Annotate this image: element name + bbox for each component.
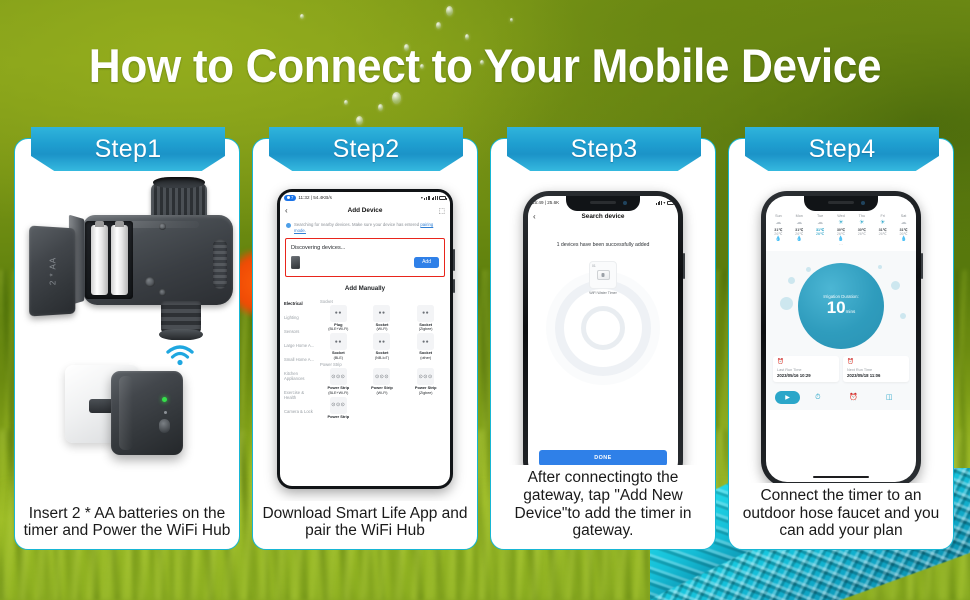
step-ribbon-2: Step2 <box>269 127 463 171</box>
phone-volume-button[interactable] <box>453 249 455 271</box>
category-item-small-home-appliances[interactable]: Small Home A... <box>284 353 317 367</box>
app-bar-title: Search device <box>528 213 678 220</box>
status-network-pill: 7 <box>284 195 296 201</box>
step-card-2: Step2 7 11:32 | 54.4KB/s ▾ <box>252 138 478 550</box>
android-screen: 7 11:32 | 54.4KB/s ▾ <box>280 192 450 486</box>
add-manually-body: Electrical Lighting Sensors Large Home A… <box>280 297 450 420</box>
device-group-header-socket: Socket <box>317 297 447 305</box>
category-item-large-home-appliances[interactable]: Large Home A... <box>284 339 317 353</box>
step-ribbon-3: Step3 <box>507 127 701 171</box>
category-item-electrical[interactable]: Electrical <box>284 297 317 311</box>
device-tile[interactable]: ⊙⊙⊙ Power Strip (Zigbee) <box>404 368 447 395</box>
phone-power-button[interactable] <box>683 253 685 279</box>
category-list: Electrical Lighting Sensors Large Home A… <box>280 297 317 420</box>
socket-icon: ●● <box>373 305 390 322</box>
status-icons: ▾ <box>421 195 446 200</box>
sun-icon: ☀ <box>851 219 872 228</box>
device-group-header-power-strip: Power Strip <box>317 360 447 368</box>
weather-forecast: Sun Mon Tue Wed Thu Fri Sat ☁ ☁ ☁ <box>766 211 916 251</box>
dial-unit: mins <box>846 309 856 314</box>
cloud-icon: ☁ <box>768 219 789 228</box>
socket-icon: ●● <box>417 305 434 322</box>
step-illustration-3: 15:49 | 25.6K ▾ ‹ Search device <box>491 175 715 465</box>
hub-indicator-dot <box>164 411 167 414</box>
collapse-handle[interactable]: ⋯ <box>768 243 914 247</box>
device-tile[interactable]: ⊙⊙⊙ Power Strip <box>317 397 360 419</box>
socket-icon: ●● <box>373 333 390 350</box>
searching-ripple-graphic <box>555 280 651 376</box>
water-timer-icon <box>597 270 610 280</box>
signal-bars-icon <box>656 201 662 205</box>
iphone-frame: 15:49 | 25.6K ▾ ‹ Search device <box>523 191 683 465</box>
hub-pair-button <box>159 419 170 433</box>
list-icon[interactable]: ◫ <box>871 394 907 401</box>
app-bar-title: Add Device <box>280 207 450 214</box>
power-strip-icon: ⊙⊙⊙ <box>330 397 347 414</box>
status-time: 11:32 | 54.4KB/s <box>298 195 332 200</box>
dial-value: 10 <box>827 298 846 317</box>
device-tile[interactable]: ●● Socket (Wi-Fi) <box>361 305 404 332</box>
status-bar: 7 11:32 | 54.4KB/s ▾ <box>280 192 450 203</box>
done-button[interactable]: DONE <box>539 450 667 465</box>
raindrop-icon: 💧 <box>768 237 789 243</box>
socket-icon: ●● <box>330 333 347 350</box>
phone-power-button[interactable] <box>921 253 923 279</box>
app-bar: ‹ Search device <box>528 209 678 224</box>
step-card-1: Step1 2 * AA <box>14 138 240 550</box>
success-message: 1 devices have been successfully added <box>528 224 678 248</box>
add-manually-heading: Add Manually <box>280 277 450 297</box>
bottom-toolbar: ▶ ⏱ ⏰ ◫ <box>766 382 916 404</box>
timer-side-grip <box>213 239 227 289</box>
step-card-4: Step4 Sun Mon Tue <box>728 138 954 550</box>
battery-cover-label: 2 * AA <box>49 257 58 285</box>
device-tile[interactable]: ●● Socket (BLE) <box>317 333 360 360</box>
step-illustration-4: Sun Mon Tue Wed Thu Fri Sat ☁ ☁ ☁ <box>729 175 953 483</box>
run-time-cards: ⏰ Last Run Time 2023/05/16 10:29 ⏰ Next … <box>766 349 916 382</box>
wifi-signal-icon <box>165 343 195 367</box>
device-thumbnail-icon <box>291 256 300 269</box>
timer-hose-outlet <box>161 301 201 335</box>
clock-icon: ⏰ <box>847 360 905 366</box>
phone-notch <box>804 196 878 211</box>
step-caption-1: Insert 2 * AA batteries on the timer and… <box>15 501 239 549</box>
clock-icon: ⏰ <box>777 360 835 366</box>
weather-temp-column: 31℃ 26℃ <box>872 228 893 238</box>
device-tile: 01 <box>589 261 617 289</box>
phone-power-button[interactable] <box>453 279 455 293</box>
searching-hint-text: Searching for nearby devices. Make sure … <box>294 222 419 227</box>
phone-speaker <box>590 201 616 204</box>
timer-icon[interactable]: ⏰ <box>836 394 872 401</box>
searching-hint: Searching for nearby devices. Make sure … <box>280 218 450 237</box>
add-device-button[interactable]: Add <box>414 257 439 268</box>
step-ribbon-1: Step1 <box>31 127 225 171</box>
power-strip-icon: ⊙⊙⊙ <box>417 368 434 385</box>
device-tile[interactable]: ●● Plug (BLE+Wi-Fi) <box>317 305 360 332</box>
discovered-device-row: Add <box>291 256 439 269</box>
weather-temp-column: 30℃ 26℃ <box>851 228 872 238</box>
device-tile[interactable]: ⊙⊙⊙ Power Strip (BLE+Wi-Fi) <box>317 368 360 395</box>
next-run-time-card[interactable]: ⏰ Next Run Time 2023/05/18 11:06 <box>843 356 909 382</box>
signal-bars-icon-2 <box>432 196 438 200</box>
category-item-kitchen-appliances[interactable]: Kitchen Appliances <box>284 367 317 386</box>
battery-cover: 2 * AA <box>29 225 75 316</box>
weather-icons: ☁ ☁ ☁ ☀ ☀ ☀ ☁ <box>768 219 914 228</box>
plug-icon: ●● <box>330 305 347 322</box>
signal-bars-icon <box>424 196 430 200</box>
info-icon <box>286 223 291 228</box>
device-grid-sockets: ●● Plug (BLE+Wi-Fi) ●● Socket (Wi-Fi) <box>317 305 447 360</box>
sun-icon: ☀ <box>872 219 893 228</box>
cloud-icon: ☁ <box>893 219 914 228</box>
dial-label: Irrigation Duration: <box>823 294 858 299</box>
wifi-hub <box>111 371 183 455</box>
phone-camera <box>623 201 627 205</box>
android-phone-frame: 7 11:32 | 54.4KB/s ▾ <box>277 189 453 489</box>
power-strip-icon: ⊙⊙⊙ <box>373 368 390 385</box>
cloud-icon: ☁ <box>789 219 810 228</box>
device-tile[interactable]: ⊙⊙⊙ Power Strip (Wi-Fi) <box>361 368 404 395</box>
home-indicator <box>813 476 869 479</box>
irrigation-panel: Irrigation Duration: 10mins ⏰ Last Run T… <box>766 251 916 410</box>
device-badge: 01 <box>592 264 596 268</box>
app-bar: ‹ Add Device ⬚ <box>280 203 450 218</box>
step-card-3: Step3 15:49 | 25.6K ▾ <box>490 138 716 550</box>
weather-temp-column-active: 31℃ 26℃ <box>810 228 831 238</box>
status-dot-icon <box>287 196 290 199</box>
play-icon[interactable]: ▶ <box>775 391 800 404</box>
wifi-status-icon: ▾ <box>421 195 423 200</box>
battery-aa-2 <box>111 225 128 295</box>
raindrop-icon: 💧 <box>789 237 810 243</box>
category-item-lighting[interactable]: Lighting <box>284 311 317 325</box>
device-tile[interactable]: ●● Socket (other) <box>404 333 447 360</box>
phone-camera <box>861 201 865 205</box>
cloud-icon: ☁ <box>810 219 831 228</box>
discovering-highlight-box: Discovering devices... Add <box>285 238 445 277</box>
timer-battery-bay <box>85 221 133 299</box>
status-icons: ▾ <box>656 200 674 205</box>
phone-notch <box>566 196 640 211</box>
battery-aa-1 <box>91 225 108 295</box>
step-illustration-2: 7 11:32 | 54.4KB/s ▾ <box>253 175 477 501</box>
power-strip-icon: ⊙⊙⊙ <box>330 368 347 385</box>
category-item-exercise-health[interactable]: Exercise & Health <box>284 386 317 405</box>
sun-icon: ☀ <box>831 219 852 228</box>
device-tile[interactable]: ●● Socket (NB-IoT) <box>361 333 404 360</box>
hub-status-led <box>162 397 167 402</box>
irrigation-duration-dial[interactable]: Irrigation Duration: 10mins <box>798 263 884 349</box>
last-run-time-card[interactable]: ⏰ Last Run Time 2023/05/16 10:29 <box>773 356 839 382</box>
battery-icon <box>667 201 674 205</box>
iphone-screen: 15:49 | 25.6K ▾ ‹ Search device <box>528 196 678 465</box>
clock-icon[interactable]: ⏱ <box>800 394 836 401</box>
step-caption-2: Download Smart Life App and pair the WiF… <box>253 501 477 549</box>
category-item-camera-lock[interactable]: Camera & Lock <box>284 405 317 419</box>
raindrop-icon: 💧 <box>893 237 914 243</box>
device-grid: Socket ●● Plug (BLE+Wi-Fi) ●● Socket <box>317 297 450 420</box>
device-tile[interactable]: ●● Socket (Zigbee) <box>404 305 447 332</box>
page-title: How to Connect to Your Mobile Device <box>29 38 941 93</box>
wifi-status-icon: ▾ <box>663 200 665 205</box>
battery-icon <box>439 196 446 200</box>
phone-speaker <box>828 201 854 204</box>
step-caption-4: Connect the timer to an outdoor hose fau… <box>729 483 953 549</box>
step-ribbon-4: Step4 <box>745 127 939 171</box>
step-illustration-1: 2 * AA <box>15 175 239 501</box>
category-item-sensors[interactable]: Sensors <box>284 325 317 339</box>
device-grid-power-strips: ⊙⊙⊙ Power Strip (BLE+Wi-Fi) ⊙⊙⊙ Power St… <box>317 368 447 419</box>
steps-row: Step1 2 * AA <box>14 138 956 550</box>
step-caption-3: After connectingto the gateway, tap "Add… <box>491 465 715 549</box>
status-time: 15:49 | 25.6K <box>532 200 559 205</box>
socket-icon: ●● <box>417 333 434 350</box>
iphone-frame: Sun Mon Tue Wed Thu Fri Sat ☁ ☁ ☁ <box>761 191 921 483</box>
discovering-label: Discovering devices... <box>291 245 439 251</box>
iphone-screen: Sun Mon Tue Wed Thu Fri Sat ☁ ☁ ☁ <box>766 196 916 482</box>
